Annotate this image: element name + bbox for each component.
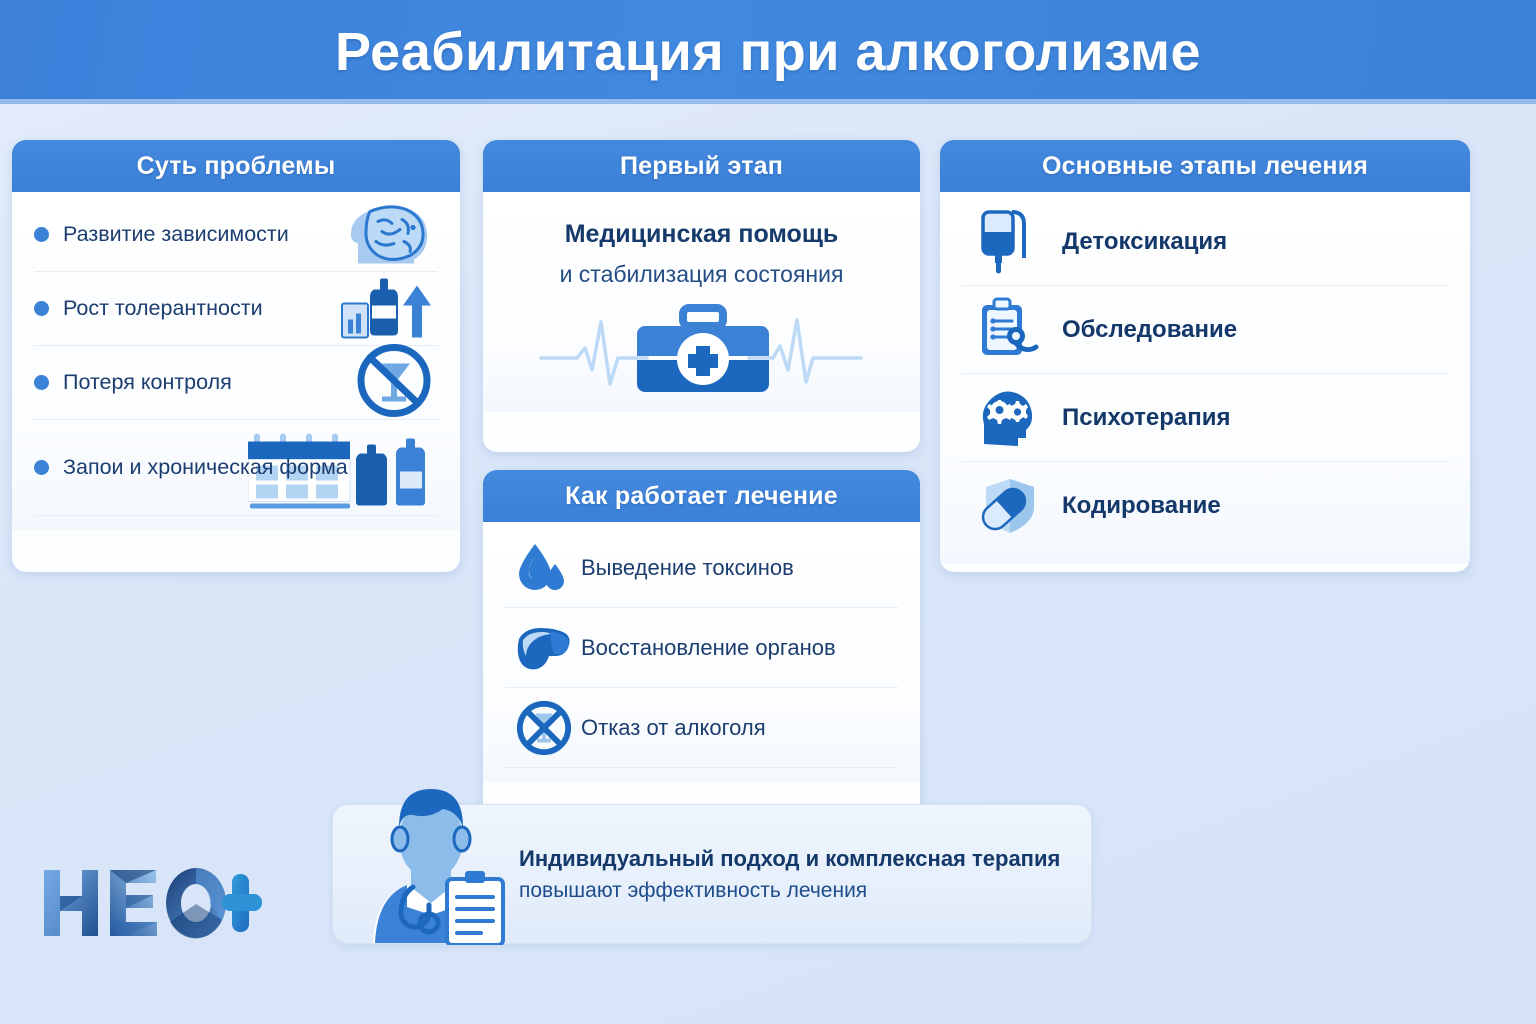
bottom-banner: Индивидуальный подход и комплексная тера…: [332, 804, 1092, 944]
bullet-icon: [34, 227, 49, 242]
banner-line2: повышают эффективность лечения: [519, 879, 1060, 903]
list-item-label: Восстановление органов: [581, 635, 836, 661]
bullet-icon: [34, 460, 49, 475]
list-item[interactable]: Отказ от алкоголя: [505, 688, 898, 768]
list-item[interactable]: Развитие зависимости: [34, 198, 438, 272]
card-main-stages-header: Основные этапы лечения: [940, 140, 1470, 192]
list-item-label: Психотерапия: [1062, 404, 1231, 432]
banner-line1: Индивидуальный подход и комплексная тера…: [519, 846, 1060, 872]
neo-plus-logo[interactable]: [36, 860, 266, 950]
page-header: Реабилитация при алкоголизме: [0, 0, 1536, 104]
card-first-stage-title: Первый этап: [620, 152, 783, 181]
card-main-stages-body: Детоксикация: [940, 192, 1470, 564]
list-item[interactable]: Рост толерантности: [34, 272, 438, 346]
water-drop-icon: [515, 540, 573, 596]
card-how-treatment-works-body: Выведение токсинов Восстановление органо…: [483, 522, 920, 782]
list-item-label: Обследование: [1062, 316, 1237, 344]
list-item[interactable]: Психотерапия: [962, 374, 1448, 462]
card-problem-title: Суть проблемы: [137, 152, 336, 181]
list-item[interactable]: Обследование: [962, 286, 1448, 374]
card-first-stage-body: Медицинская помощь и стабилизация состоя…: [483, 192, 920, 412]
card-problem: Суть проблемы Развитие зависимости Рост …: [12, 140, 460, 572]
card-first-stage-header: Первый этап: [483, 140, 920, 192]
card-how-treatment-works-header: Как работает лечение: [483, 470, 920, 522]
infographic-board: Суть проблемы Развитие зависимости Рост …: [0, 104, 1536, 1024]
first-aid-kit-ecg-icon: [505, 302, 898, 398]
pill-shield-icon: [978, 475, 1050, 537]
list-item[interactable]: Выведение токсинов: [505, 528, 898, 608]
list-item-label: Выведение токсинов: [581, 555, 794, 581]
card-main-stages-title: Основные этапы лечения: [1042, 152, 1368, 181]
page-title: Реабилитация при алкоголизме: [335, 21, 1201, 83]
list-item-label: Развитие зависимости: [63, 221, 289, 248]
card-main-stages: Основные этапы лечения Детоксикация: [940, 140, 1470, 572]
bottle-growth-arrow-icon: [340, 271, 436, 346]
card-first-stage: Первый этап Медицинская помощь и стабили…: [483, 140, 920, 452]
list-item[interactable]: Кодирование: [962, 462, 1448, 550]
list-item-label: Потеря контроля: [63, 369, 232, 396]
clipboard-stethoscope-icon: [978, 297, 1050, 363]
card-problem-header: Суть проблемы: [12, 140, 460, 192]
bullet-icon: [34, 301, 49, 316]
first-stage-text: Медицинская помощь и стабилизация состоя…: [505, 198, 898, 288]
card-problem-body: Развитие зависимости Рост толерантности: [12, 192, 460, 530]
list-item[interactable]: Восстановление органов: [505, 608, 898, 688]
first-stage-line2: и стабилизация состояния: [505, 261, 898, 288]
list-item-label: Отказ от алкоголя: [581, 715, 766, 741]
brain-head-icon: [344, 201, 436, 268]
banner-text: Индивидуальный подход и комплексная тера…: [519, 846, 1060, 903]
list-item-label: Кодирование: [1062, 492, 1221, 520]
first-stage-line1: Медицинская помощь: [505, 220, 898, 249]
list-item-label: Запои и хроническая форма: [63, 454, 348, 481]
card-how-treatment-works-title: Как работает лечение: [565, 482, 838, 511]
list-item[interactable]: Потеря контроля: [34, 346, 438, 420]
no-alcohol-icon: [515, 698, 573, 758]
list-item-label: Рост толерантности: [63, 295, 263, 322]
no-alcohol-glass-icon: [352, 341, 436, 424]
bullet-icon: [34, 375, 49, 390]
list-item-label: Детоксикация: [1062, 228, 1227, 256]
list-item[interactable]: Детоксикация: [962, 198, 1448, 286]
list-item[interactable]: Запои и хроническая форма: [34, 420, 438, 516]
doctor-clipboard-icon: [351, 783, 511, 950]
iv-drip-bag-icon: [978, 206, 1050, 278]
head-gears-icon: [978, 386, 1050, 450]
liver-icon: [515, 623, 573, 673]
